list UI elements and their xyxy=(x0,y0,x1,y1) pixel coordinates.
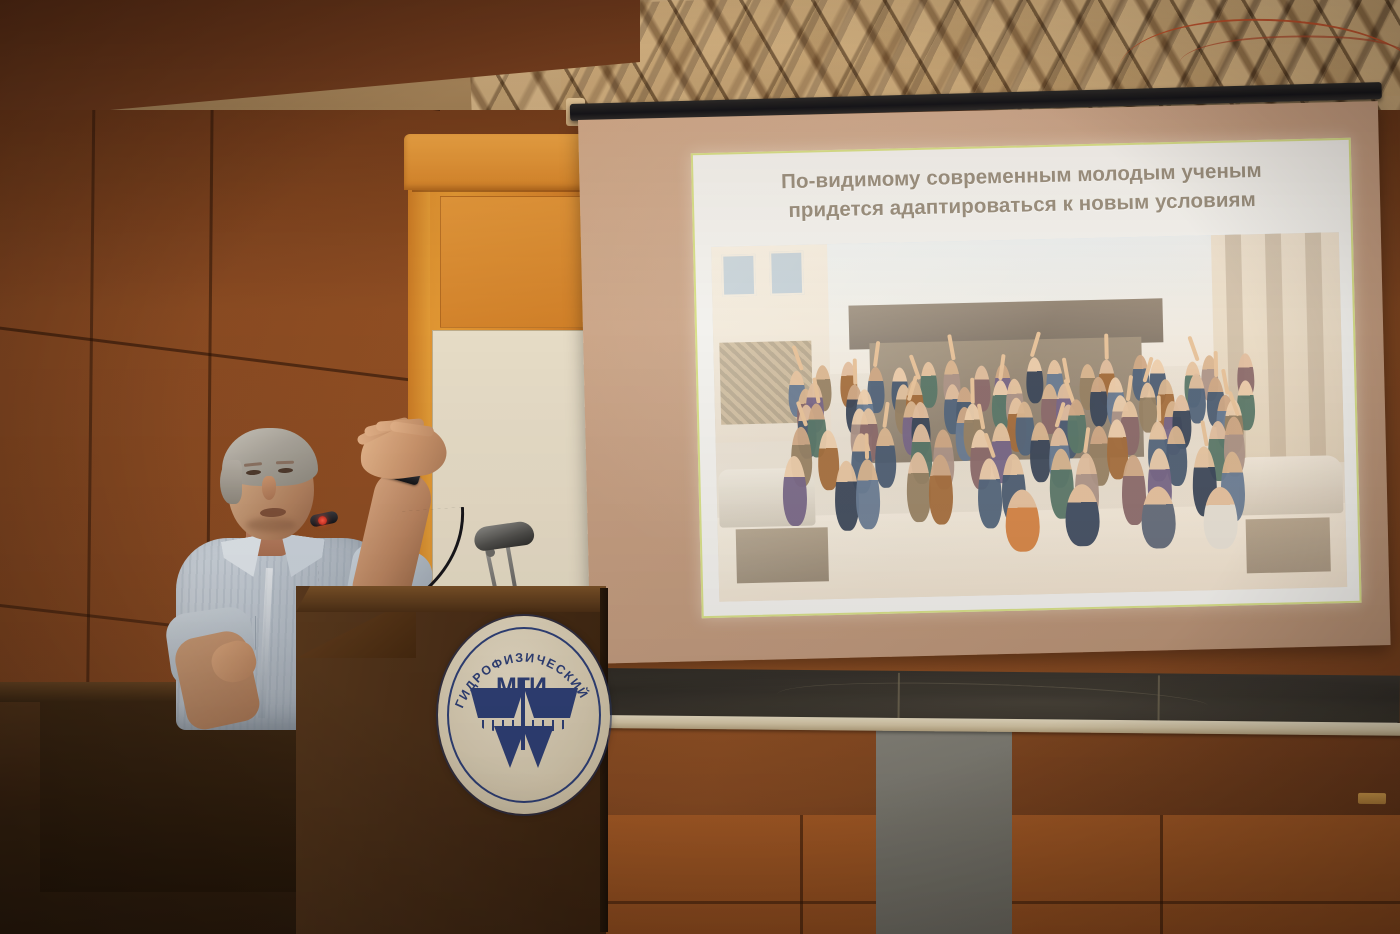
presenter-hair-side xyxy=(220,460,242,504)
microphone-led-indicator xyxy=(318,516,327,525)
chalk-piece xyxy=(1358,793,1386,804)
logo-mast xyxy=(521,678,525,750)
crowd-raised-arm xyxy=(1214,351,1219,377)
conference-hall-photo: По-видимому современным молодым ученым п… xyxy=(0,0,1400,934)
slide-group-photo xyxy=(711,232,1347,602)
logo-mark: МГИ xyxy=(468,668,580,768)
column-capital xyxy=(404,134,602,190)
crowd-raised-arm xyxy=(1104,334,1109,360)
projection-screen: По-видимому современным молодым ученым п… xyxy=(578,101,1391,664)
podium-top-surface xyxy=(296,586,606,612)
institute-logo: ГИДРОФИЗИЧЕСКИЙ МГИ xyxy=(438,616,610,814)
logo-hull-left xyxy=(470,688,524,718)
chalkboard-assembly xyxy=(598,668,1400,734)
crowd-raised-arm xyxy=(852,358,857,384)
presenter-nose xyxy=(262,476,276,500)
chin-shadow xyxy=(246,518,296,532)
logo-hull-right xyxy=(524,688,578,718)
projected-slide: По-видимому современным молодым ученым п… xyxy=(691,138,1362,618)
column-cap-seam xyxy=(412,190,598,192)
crowd-raised-arm xyxy=(971,378,976,404)
column-inset-panel xyxy=(440,196,590,328)
crowd-raised-arm xyxy=(865,433,870,459)
eyebrow-right xyxy=(276,461,294,465)
crowd-raised-arm xyxy=(1157,396,1162,422)
logo-triangle-right xyxy=(522,726,554,768)
